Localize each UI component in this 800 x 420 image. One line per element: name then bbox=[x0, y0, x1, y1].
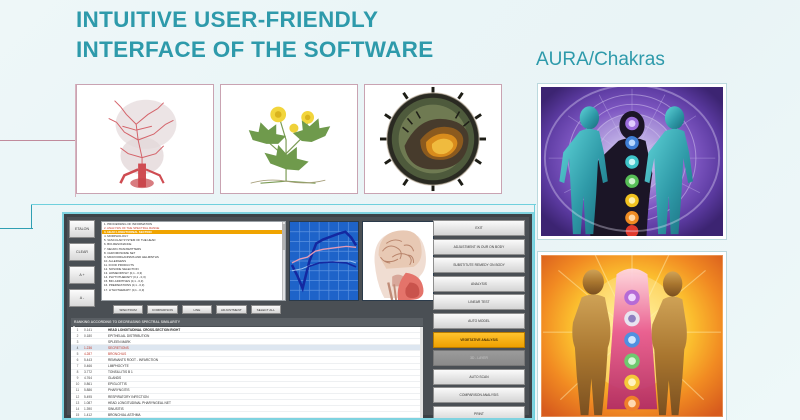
ranking-row-index: 13 bbox=[71, 401, 84, 405]
ranking-row-name: RESPIRATORY INFECTION bbox=[104, 395, 423, 399]
ranking-row-value: 5.443 bbox=[84, 358, 104, 362]
ranking-row-value: 1.087 bbox=[84, 401, 104, 405]
ranking-row-value: 0.180 bbox=[84, 334, 104, 338]
ranking-row-index: 7 bbox=[71, 364, 84, 368]
ranking-row-index: 2 bbox=[71, 334, 84, 338]
aura-image-panel-top[interactable] bbox=[538, 84, 726, 239]
ranking-row-value: 5.886 bbox=[84, 388, 104, 392]
aura-chakra-male-icon bbox=[541, 87, 723, 236]
ranking-row-index: 11 bbox=[71, 388, 84, 392]
left-toolbar-button-font-decrease[interactable]: A - bbox=[69, 289, 95, 307]
ranking-row-name: HEAD LONGITUDINAL CROSS-SECTION RIGHT bbox=[104, 328, 423, 332]
ranking-row-name: SECRETIONS bbox=[104, 346, 423, 350]
right-panel-button-vegetative-analysis[interactable]: VEGETATIVE ANALYSIS bbox=[433, 332, 525, 348]
connector-line-teal-tail bbox=[0, 228, 33, 229]
ranking-row-index: 6 bbox=[71, 358, 84, 362]
ranking-row-value: 0.861 bbox=[84, 382, 104, 386]
right-panel-button-exit[interactable]: EXIT bbox=[433, 220, 525, 236]
connector-line-pink-horizontal bbox=[0, 140, 76, 141]
ranking-row-name: GLANDS bbox=[104, 376, 423, 380]
right-panel-button-analysis[interactable]: ANALYSIS bbox=[433, 276, 525, 292]
page-title-line-2: INTERFACE OF THE SOFTWARE bbox=[76, 35, 506, 65]
software-left-toolbar: ETALON CLEAR A + A - bbox=[69, 220, 97, 316]
ranking-row-name: REMNANTS ROOT - INFARCTION bbox=[104, 358, 423, 362]
ranking-row-name: HEAD LONGITUDINAL PHARYNGEAL NET bbox=[104, 401, 423, 405]
ranking-row-index: 5 bbox=[71, 352, 84, 356]
software-tab-comparison[interactable]: COMPARISON bbox=[147, 305, 178, 314]
ranking-row-index: 14 bbox=[71, 407, 84, 411]
page-title: INTUITIVE USER-FRIENDLY INTERFACE OF THE… bbox=[76, 5, 506, 64]
software-interface-screenshot[interactable]: ETALON CLEAR A + A - 1. PROCESSING OF IN… bbox=[62, 212, 534, 420]
software-window-body: ETALON CLEAR A + A - 1. PROCESSING OF IN… bbox=[67, 217, 529, 415]
organ-list-scrollbar[interactable] bbox=[282, 222, 285, 300]
spectrum-graph-panel[interactable] bbox=[289, 221, 359, 301]
software-tab-row: SPECTRUMCOMPARISONLINEADJUSTMENTSELECT A… bbox=[113, 305, 281, 314]
ranking-row-index: 15 bbox=[71, 413, 84, 417]
left-toolbar-button-etalon[interactable]: ETALON bbox=[69, 220, 95, 238]
head-sagittal-icon bbox=[363, 222, 433, 300]
right-panel-button-print[interactable]: PRINT bbox=[433, 406, 525, 420]
anatomy-preview-panel[interactable] bbox=[362, 221, 434, 301]
thumbnail-brain-vasculature[interactable] bbox=[76, 84, 214, 194]
right-panel-button-auto-model[interactable]: AUTO MODEL bbox=[433, 313, 525, 329]
ranking-row-index: 9 bbox=[71, 376, 84, 380]
ranking-row-name: TONSILLITIS B 1 bbox=[104, 370, 423, 374]
ranking-row-value: 4.287 bbox=[84, 352, 104, 356]
ranking-row-value: 0.466 bbox=[84, 364, 104, 368]
plant-icon bbox=[221, 85, 357, 193]
left-toolbar-button-clear[interactable]: CLEAR bbox=[69, 243, 95, 261]
aura-chakra-female-icon bbox=[541, 255, 723, 417]
ranking-row-name: EPITHELIAL DISTRIBUTION bbox=[104, 334, 423, 338]
ranking-row-name: BRONCHUS bbox=[104, 352, 423, 356]
ranking-row-name: LIMPHOCYTE bbox=[104, 364, 423, 368]
ranking-row-name: SINUSITIS bbox=[104, 407, 423, 411]
right-panel-button-linear-test[interactable]: LINEAR TEST bbox=[433, 294, 525, 310]
software-tab-line[interactable]: LINE bbox=[182, 305, 212, 314]
ranking-row-value: 1.390 bbox=[84, 407, 104, 411]
specimen-icon bbox=[365, 85, 501, 193]
ranking-table[interactable]: 10.141HEAD LONGITUDINAL CROSS-SECTION RI… bbox=[71, 327, 423, 420]
thumbnail-buttercup-plant[interactable] bbox=[220, 84, 358, 194]
slide-canvas: INTUITIVE USER-FRIENDLY INTERFACE OF THE… bbox=[0, 0, 800, 420]
right-panel-button-substitute-remedy-on-body[interactable]: SUBSTITUTE REMEDY ON BODY bbox=[433, 257, 525, 273]
connector-line-teal-horizontal bbox=[31, 204, 536, 205]
ranking-row-name: SPLEEN MARK bbox=[104, 340, 423, 344]
ranking-row-index: 10 bbox=[71, 382, 84, 386]
page-title-line-1: INTUITIVE USER-FRIENDLY bbox=[76, 5, 506, 35]
right-panel-button-auto-scan[interactable]: AUTO SCAN bbox=[433, 369, 525, 385]
ranking-row-index: 12 bbox=[71, 395, 84, 399]
organ-list-scroll-thumb[interactable] bbox=[282, 224, 285, 250]
ranking-row-index: 3 bbox=[71, 340, 84, 344]
aura-section-title: AURA/Chakras bbox=[536, 49, 665, 71]
ranking-row-name: PHARYNGITIS bbox=[104, 388, 423, 392]
left-toolbar-button-font-increase[interactable]: A + bbox=[69, 266, 95, 284]
spectrum-chart-icon bbox=[290, 222, 358, 300]
ranking-row-index: 8 bbox=[71, 370, 84, 374]
ranking-row-value: 5.495 bbox=[84, 395, 104, 399]
ranking-header: RANKING ACCORDING TO DECREASING SPECTRAL… bbox=[71, 318, 423, 326]
ranking-row-index: 1 bbox=[71, 328, 84, 332]
ranking-row-index: 4 bbox=[71, 346, 84, 350]
ranking-table-body: 10.141HEAD LONGITUDINAL CROSS-SECTION RI… bbox=[71, 327, 423, 418]
organ-list-item[interactable]: 17. LITHOTHERAPY (0,1 - 0,3) bbox=[102, 288, 285, 292]
thumbnail-microscopic-specimen[interactable] bbox=[364, 84, 502, 194]
table-row[interactable]: 151.412BRONCHIAL ASTHMA bbox=[71, 412, 423, 418]
ranking-row-value: 4.764 bbox=[84, 376, 104, 380]
organ-list-panel[interactable]: 1. PROCESSING OF INFORMATION2. ANALYSIS … bbox=[101, 221, 286, 301]
connector-line-teal-elbow bbox=[31, 205, 32, 229]
software-tab-select-all[interactable]: SELECT ALL bbox=[251, 305, 281, 314]
ranking-row-value: 1.236 bbox=[84, 346, 104, 350]
ranking-row-name: EPIGLOTTIS bbox=[104, 382, 423, 386]
connector-line-teal-right bbox=[534, 204, 535, 420]
aura-image-panel-bottom[interactable] bbox=[538, 252, 726, 420]
organ-list-items: 1. PROCESSING OF INFORMATION2. ANALYSIS … bbox=[102, 222, 285, 292]
ranking-row-value: 1.412 bbox=[84, 413, 104, 417]
ranking-row-name: BRONCHIAL ASTHMA bbox=[104, 413, 423, 417]
software-tab-adjustment[interactable]: ADJUSTMENT bbox=[216, 305, 247, 314]
right-panel-button-comparison-analysis[interactable]: COMPARISON ANALYSIS bbox=[433, 387, 525, 403]
brain-vasculature-icon bbox=[77, 85, 213, 193]
ranking-row-value: 0.141 bbox=[84, 328, 104, 332]
right-panel-button-3d-layer: 3D - LAYER bbox=[433, 350, 525, 366]
software-right-button-panel: EXITADJUSTMENT IN OUR ON BODYSUBSTITUTE … bbox=[433, 220, 527, 420]
ranking-table-scrollbar[interactable] bbox=[420, 327, 423, 420]
ranking-row-value: 3.772 bbox=[84, 370, 104, 374]
software-tab-spectrum[interactable]: SPECTRUM bbox=[113, 305, 143, 314]
right-panel-button-adjustment-in-our-on-body[interactable]: ADJUSTMENT IN OUR ON BODY bbox=[433, 239, 525, 255]
